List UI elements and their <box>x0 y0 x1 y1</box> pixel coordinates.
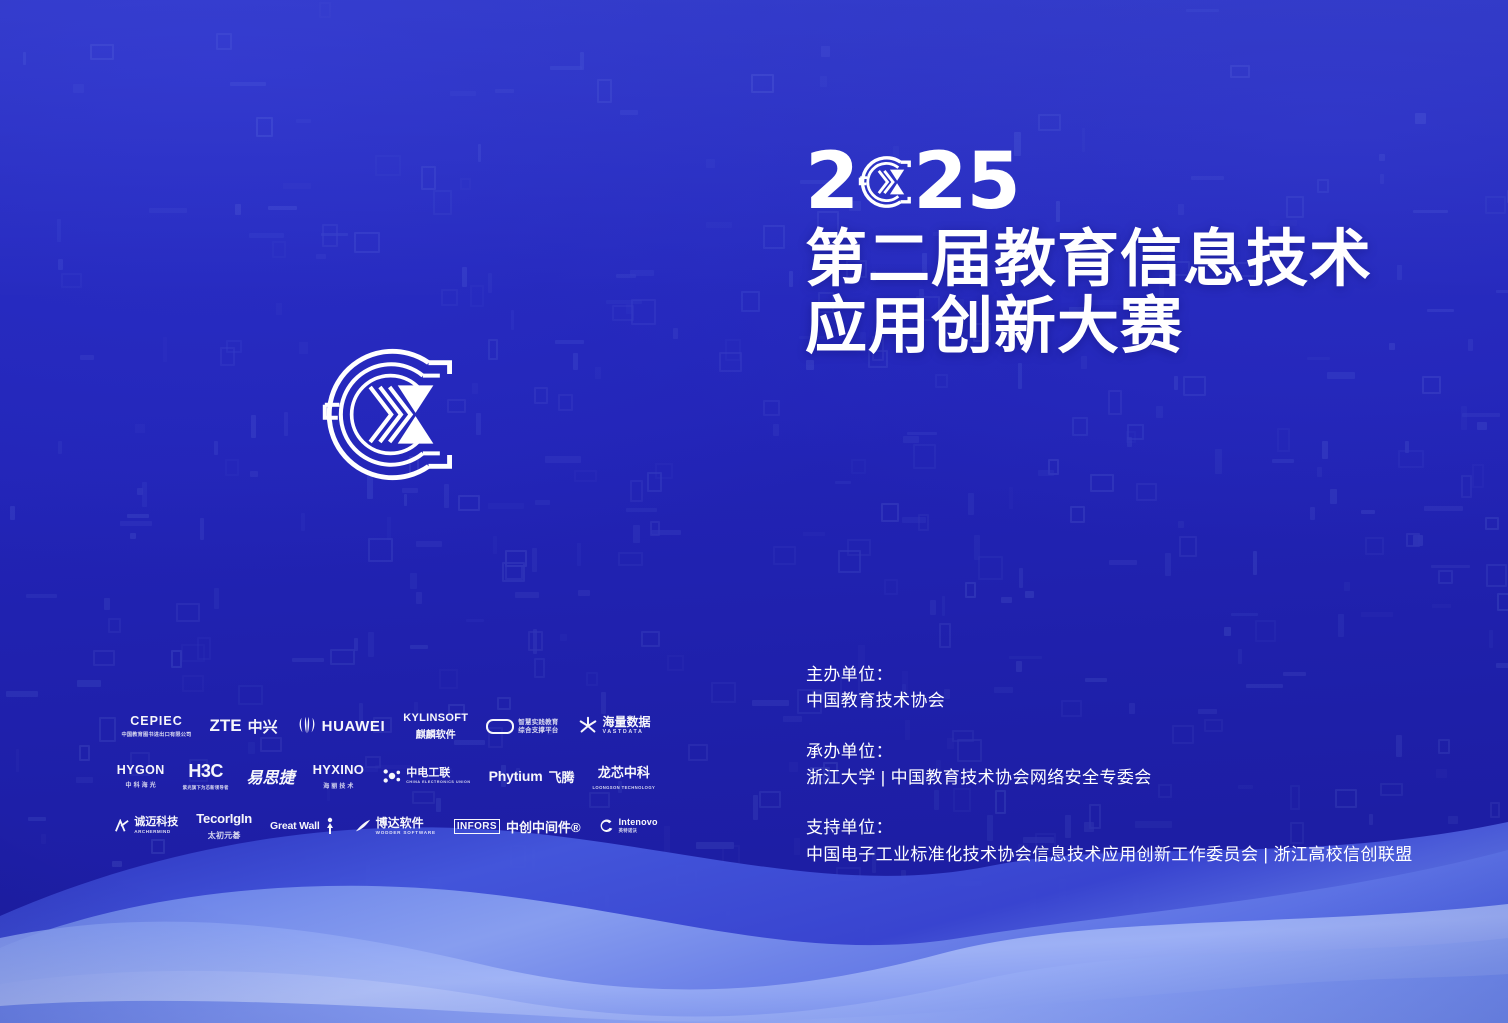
organizer-value-host: 中国教育技术协会 <box>806 688 1486 714</box>
year-2025: 2 <box>805 146 1465 218</box>
huawei-latin: HUAWEI <box>322 718 386 735</box>
loongson-sub: LOONGSON TECHNOLOGY <box>592 785 655 790</box>
sponsor-row-3: 诚迈科技 ARCHERMIND TecorIgIn 太初元碁 Great Wal… <box>96 802 676 850</box>
sponsor-logo-huawei: HUAWEI <box>296 716 386 736</box>
greatwall-figure-icon <box>324 817 336 835</box>
title-line-1: 第二届教育信息技术 <box>805 226 1465 293</box>
zdgl-sub: CHINA ELECTRONICS UNION <box>406 781 470 785</box>
intenovo-latin: Intenovo <box>619 818 658 827</box>
zte-latin: ZTE <box>210 716 242 736</box>
sponsor-logo-loongson: 龙芯中科 LOONGSON TECHNOLOGY <box>592 762 655 790</box>
archermind-cn: 诚迈科技 <box>134 817 178 828</box>
sponsor-logo-smart-edu-platform: 智慧实践教育 综合支撑平台 <box>486 718 558 734</box>
sponsor-logo-archermind: 诚迈科技 ARCHERMIND <box>114 817 178 835</box>
hygon-latin: HYGON <box>117 763 165 777</box>
year-digit-left: 2 <box>805 143 858 221</box>
sponsor-logo-hygon: HYGON 中 科 海 光 <box>117 763 165 790</box>
hyxino-latin: HYXINO <box>313 762 365 777</box>
vastdata-snowflake-icon <box>577 715 599 737</box>
sponsor-logo-h3c: H3C 紫光旗下为芯新领导者 <box>183 761 229 792</box>
sponsor-logo-zdgl: 中电工联 CHINA ELECTRONICS UNION <box>382 767 470 785</box>
phytium-latin: Phytium <box>489 768 543 784</box>
archermind-sub: ARCHERMIND <box>134 830 178 835</box>
organizer-block-undertaker: 承办单位： 浙江大学 | 中国教育技术协会网络安全专委会 <box>806 739 1486 792</box>
tecorigin-latin: TecorIgIn <box>196 811 252 826</box>
kylinsoft-latin: KYLINSOFT <box>403 712 468 724</box>
vastdata-cn: 海量数据 <box>603 716 651 728</box>
smart-edu-cn2: 综合支撑平台 <box>518 728 558 735</box>
page-title: 第二届教育信息技术 应用创新大赛 <box>805 226 1465 360</box>
headline-block: 2 <box>805 146 1465 360</box>
intenovo-swoosh-icon <box>599 818 615 834</box>
sponsor-logo-cepiec: CEPIEC 中国教育图书进出口有限公司 <box>121 714 191 739</box>
sponsor-row-1: CEPIEC 中国教育图书进出口有限公司 ZTE 中兴 HUAWEI <box>96 702 676 750</box>
organizer-label-undertaker: 承办单位： <box>806 739 1486 765</box>
sponsor-logo-wodder: 博达软件 WODDER SOFTWARE <box>354 817 436 836</box>
sponsor-logo-wall: CEPIEC 中国教育图书进出口有限公司 ZTE 中兴 HUAWEI <box>96 702 676 852</box>
sponsor-logo-tecorigin: TecorIgIn 太初元碁 <box>196 811 252 841</box>
h3c-sub: 紫光旗下为芯新领导者 <box>183 785 229 791</box>
sponsor-logo-zte: ZTE 中兴 <box>210 716 278 737</box>
tecorigin-cn: 太初元碁 <box>208 830 241 841</box>
huawei-petal-icon <box>296 716 318 736</box>
year-digits-right: 25 <box>913 143 1020 221</box>
archermind-logo <box>114 819 130 833</box>
phytium-cn: 飞腾 <box>548 767 574 786</box>
zdgl-cn: 中电工联 <box>406 768 470 779</box>
wodder-cn: 博达软件 <box>376 817 436 829</box>
cepiec-latin: CEPIEC <box>130 714 183 728</box>
sponsor-logo-greatwall: Great Wall <box>270 817 336 835</box>
kylinsoft-cn: 麒麟软件 <box>416 726 456 741</box>
zte-cn: 中兴 <box>248 716 278 737</box>
organizer-label-host: 主办单位： <box>806 662 1486 688</box>
title-line-2: 应用创新大赛 <box>805 293 1465 360</box>
wodder-sub: WODDER SOFTWARE <box>376 831 436 836</box>
smart-edu-platform-logo <box>486 719 514 734</box>
organizer-block-host: 主办单位： 中国教育技术协会 <box>806 662 1486 715</box>
sponsor-logo-hyxino: HYXINO 海 丽 技 术 <box>313 762 365 790</box>
poster-canvas: 2 <box>0 0 1508 1023</box>
sponsor-logo-kylinsoft: KYLINSOFT 麒麟软件 <box>403 712 468 741</box>
sponsor-logo-infors: INFORS 中创中间件® <box>454 817 581 836</box>
sponsor-logo-yisijie: 易思捷 <box>247 764 295 788</box>
sponsor-logo-vastdata: 海量数据 VASTDATA <box>577 715 651 737</box>
wodder-logo <box>354 818 372 834</box>
intenovo-sub: 英特诺沃 <box>619 829 658 833</box>
sponsor-logo-intenovo: Intenovo 英特诺沃 <box>599 818 658 834</box>
cepiec-sub: 中国教育图书进出口有限公司 <box>121 731 191 738</box>
sponsor-row-2: HYGON 中 科 海 光 H3C 紫光旗下为芯新领导者 易思捷 HYXINO … <box>96 752 676 800</box>
organizers-section: 主办单位： 中国教育技术协会 承办单位： 浙江大学 | 中国教育技术协会网络安全… <box>806 662 1486 868</box>
organizer-label-supporter: 支持单位： <box>806 815 1486 841</box>
year-mark-emblem-icon <box>854 151 916 213</box>
organizer-block-supporter: 支持单位： 中国电子工业标准化技术协会信息技术应用创新工作委员会 | 浙江高校信… <box>806 815 1486 868</box>
organizer-value-supporter: 中国电子工业标准化技术协会信息技术应用创新工作委员会 | 浙江高校信创联盟 <box>806 842 1486 868</box>
organizer-value-undertaker: 浙江大学 | 中国教育技术协会网络安全专委会 <box>806 765 1486 791</box>
yisijie-cn: 易思捷 <box>247 764 295 788</box>
hyxino-sub: 海 丽 技 术 <box>323 781 353 790</box>
smart-edu-cn1: 智慧实践教育 <box>518 720 558 727</box>
zdgl-atom-icon <box>382 767 402 785</box>
vastdata-sub: VASTDATA <box>603 730 651 735</box>
infors-latin: INFORS <box>454 819 500 834</box>
infors-cn: 中创中间件® <box>506 817 581 836</box>
competition-c-emblem-icon <box>307 332 469 497</box>
loongson-cn: 龙芯中科 <box>598 762 650 781</box>
sponsor-logo-phytium: Phytium 飞腾 <box>489 767 575 786</box>
h3c-latin: H3C <box>188 761 223 782</box>
greatwall-latin: Great Wall <box>270 820 320 832</box>
hygon-sub: 中 科 海 光 <box>126 780 156 789</box>
